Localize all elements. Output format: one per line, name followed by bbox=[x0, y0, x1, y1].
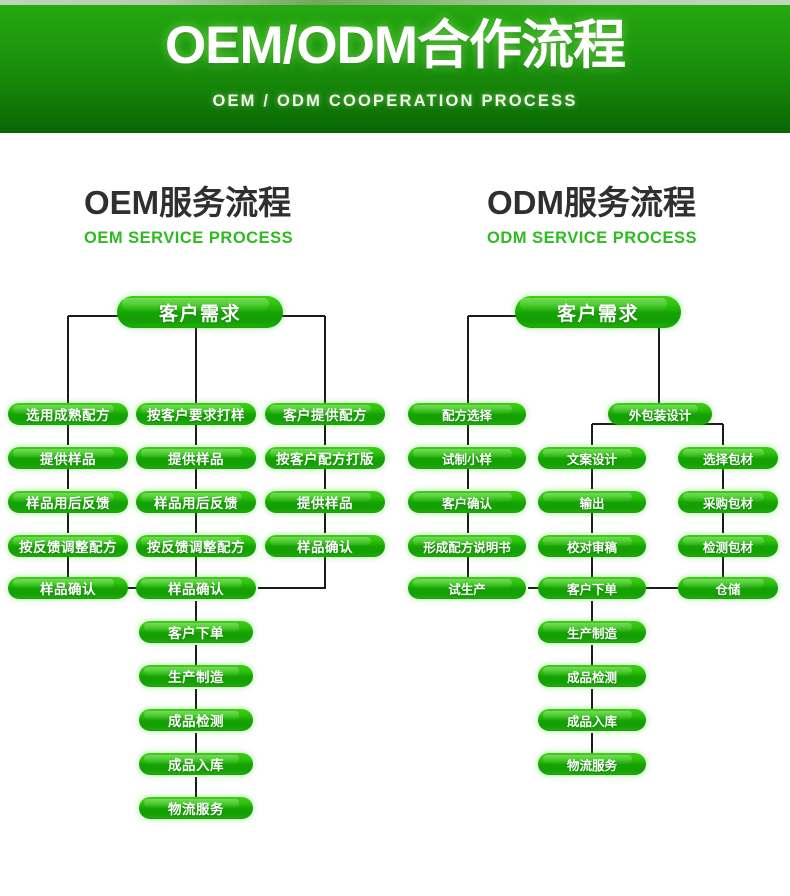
oem-node-b1-label: 按客户要求打样 bbox=[147, 404, 245, 424]
odm-node-d3-label: 校对审稿 bbox=[567, 537, 617, 556]
odm-node-d4-label: 客户下单 bbox=[567, 579, 617, 598]
oem-node-c4-label: 样品确认 bbox=[297, 536, 353, 556]
oem-node-tail4[interactable]: 成品入库 bbox=[139, 753, 253, 775]
odm-node-design-head[interactable]: 外包装设计 bbox=[608, 403, 712, 425]
odm-node-d2-label: 输出 bbox=[579, 493, 604, 512]
odm-node-tail2-label: 成品检测 bbox=[567, 667, 617, 686]
oem-node-b5-label: 样品确认 bbox=[168, 578, 224, 598]
oem-node-a5[interactable]: 样品确认 bbox=[8, 577, 128, 599]
odm-node-f1-label: 配方选择 bbox=[442, 405, 492, 424]
oem-node-a2[interactable]: 提供样品 bbox=[8, 447, 128, 469]
oem-node-a3[interactable]: 样品用后反馈 bbox=[8, 491, 128, 513]
oem-node-c2-label: 按客户配方打版 bbox=[276, 448, 374, 468]
oem-node-root[interactable]: 客户需求 bbox=[117, 296, 283, 328]
odm-node-d1[interactable]: 文案设计 bbox=[538, 447, 646, 469]
odm-node-f1[interactable]: 配方选择 bbox=[408, 403, 526, 425]
flowchart-area: 客户需求 选用成熟配方 提供样品 样品用后反馈 按反馈调整配方 样品确认 按客户… bbox=[0, 0, 790, 896]
odm-node-p3-label: 检测包材 bbox=[703, 537, 753, 556]
oem-node-a1[interactable]: 选用成熟配方 bbox=[8, 403, 128, 425]
odm-node-p1-label: 选择包材 bbox=[703, 449, 753, 468]
odm-node-tail2[interactable]: 成品检测 bbox=[538, 665, 646, 687]
oem-node-b4[interactable]: 按反馈调整配方 bbox=[136, 535, 256, 557]
oem-node-a2-label: 提供样品 bbox=[40, 448, 96, 468]
oem-node-c2[interactable]: 按客户配方打版 bbox=[265, 447, 385, 469]
odm-node-f3-label: 客户确认 bbox=[442, 493, 492, 512]
odm-node-p3[interactable]: 检测包材 bbox=[678, 535, 778, 557]
odm-node-d3[interactable]: 校对审稿 bbox=[538, 535, 646, 557]
oem-node-tail1[interactable]: 客户下单 bbox=[139, 621, 253, 643]
odm-node-p2-label: 采购包材 bbox=[703, 493, 753, 512]
oem-node-b2[interactable]: 提供样品 bbox=[136, 447, 256, 469]
odm-node-p2[interactable]: 采购包材 bbox=[678, 491, 778, 513]
oem-node-c1-label: 客户提供配方 bbox=[283, 404, 367, 424]
oem-node-tail2[interactable]: 生产制造 bbox=[139, 665, 253, 687]
odm-node-p4[interactable]: 仓储 bbox=[678, 577, 778, 599]
odm-node-design-head-label: 外包装设计 bbox=[629, 405, 692, 424]
oem-node-b3-label: 样品用后反馈 bbox=[154, 492, 238, 512]
oem-node-b3[interactable]: 样品用后反馈 bbox=[136, 491, 256, 513]
oem-node-a4[interactable]: 按反馈调整配方 bbox=[8, 535, 128, 557]
oem-node-b5[interactable]: 样品确认 bbox=[136, 577, 256, 599]
odm-node-f2-label: 试制小样 bbox=[442, 449, 492, 468]
odm-node-f4-label: 形成配方说明书 bbox=[423, 537, 511, 556]
oem-node-c4[interactable]: 样品确认 bbox=[265, 535, 385, 557]
oem-node-tail5-label: 物流服务 bbox=[168, 798, 224, 818]
oem-node-c1[interactable]: 客户提供配方 bbox=[265, 403, 385, 425]
oem-node-tail2-label: 生产制造 bbox=[168, 666, 224, 686]
oem-node-tail1-label: 客户下单 bbox=[168, 622, 224, 642]
odm-node-d2[interactable]: 输出 bbox=[538, 491, 646, 513]
oem-node-a3-label: 样品用后反馈 bbox=[26, 492, 110, 512]
oem-node-tail3-label: 成品检测 bbox=[168, 710, 224, 730]
oem-node-c3[interactable]: 提供样品 bbox=[265, 491, 385, 513]
odm-node-tail4-label: 物流服务 bbox=[567, 755, 617, 774]
odm-node-tail1[interactable]: 生产制造 bbox=[538, 621, 646, 643]
oem-node-b2-label: 提供样品 bbox=[168, 448, 224, 468]
odm-node-f3[interactable]: 客户确认 bbox=[408, 491, 526, 513]
odm-node-root-label: 客户需求 bbox=[557, 299, 639, 326]
oem-node-a5-label: 样品确认 bbox=[40, 578, 96, 598]
odm-node-tail4[interactable]: 物流服务 bbox=[538, 753, 646, 775]
odm-node-f5[interactable]: 试生产 bbox=[408, 577, 526, 599]
odm-node-tail1-label: 生产制造 bbox=[567, 623, 617, 642]
odm-node-root[interactable]: 客户需求 bbox=[515, 296, 681, 328]
odm-node-d1-label: 文案设计 bbox=[567, 449, 617, 468]
odm-node-f5-label: 试生产 bbox=[448, 579, 486, 598]
oem-node-a4-label: 按反馈调整配方 bbox=[19, 536, 117, 556]
odm-node-p4-label: 仓储 bbox=[715, 579, 740, 598]
odm-node-d4[interactable]: 客户下单 bbox=[538, 577, 646, 599]
oem-node-b1[interactable]: 按客户要求打样 bbox=[136, 403, 256, 425]
odm-node-f4[interactable]: 形成配方说明书 bbox=[408, 535, 526, 557]
odm-node-f2[interactable]: 试制小样 bbox=[408, 447, 526, 469]
oem-node-a1-label: 选用成熟配方 bbox=[26, 404, 110, 424]
oem-node-c3-label: 提供样品 bbox=[297, 492, 353, 512]
page-root: OEM/ODM合作流程 OEM / ODM COOPERATION PROCES… bbox=[0, 0, 790, 896]
oem-node-tail3[interactable]: 成品检测 bbox=[139, 709, 253, 731]
oem-node-tail5[interactable]: 物流服务 bbox=[139, 797, 253, 819]
odm-node-tail3[interactable]: 成品入库 bbox=[538, 709, 646, 731]
odm-node-p1[interactable]: 选择包材 bbox=[678, 447, 778, 469]
odm-node-tail3-label: 成品入库 bbox=[567, 711, 617, 730]
oem-node-b4-label: 按反馈调整配方 bbox=[147, 536, 245, 556]
oem-node-root-label: 客户需求 bbox=[159, 299, 241, 326]
oem-node-tail4-label: 成品入库 bbox=[168, 754, 224, 774]
